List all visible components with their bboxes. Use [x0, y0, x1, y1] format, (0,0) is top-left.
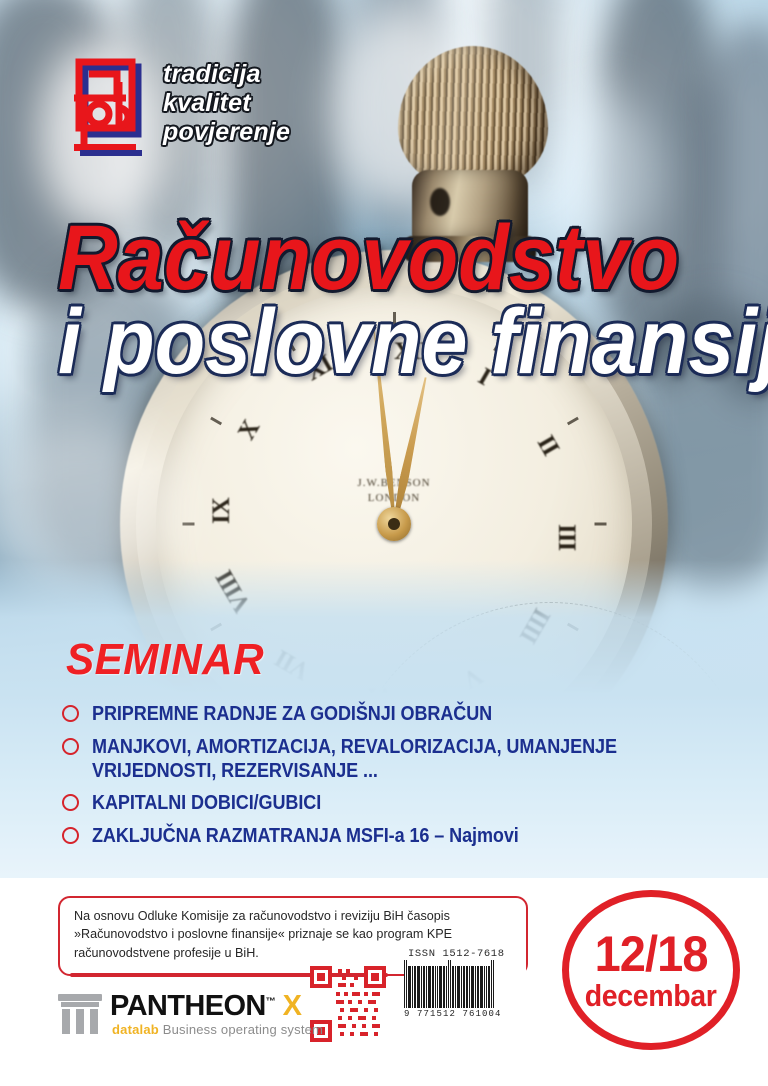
- temple-column: [90, 1009, 98, 1034]
- sponsor-tagline-brand: datalab: [112, 1022, 159, 1037]
- issn-label: ISSN 1512-7618: [408, 948, 505, 960]
- publisher-claim: tradicija kvalitet povjerenje: [163, 60, 290, 147]
- temple-column: [62, 1009, 70, 1034]
- bullet-ring-icon: [62, 738, 79, 755]
- seminar-topic-text: ZAKLJUČNA RAZMATRANJA MSFI-a 16 – Najmov…: [92, 824, 519, 848]
- seminar-heading: SEMINAR: [66, 638, 264, 682]
- sponsor-logo: PANTHEON™ X datalab Business operating s…: [58, 990, 308, 1042]
- barcode-number: 9 771512 761004: [404, 1009, 526, 1019]
- seminar-topic-text: PRIPREMNE RADNJE ZA GODIŠNJI OBRAČUN: [92, 702, 492, 726]
- dial-brand-line1: J.W.BENSON: [357, 476, 430, 491]
- barcode: 9 771512 761004: [404, 960, 526, 1018]
- temple-column-icon: [58, 994, 102, 1034]
- bullet-ring-icon: [62, 794, 79, 811]
- sponsor-tagline: datalab Business operating system: [112, 1022, 323, 1037]
- feb-logo-mark: [62, 58, 158, 156]
- claim-line-2: kvalitet: [163, 89, 290, 118]
- list-item[interactable]: PRIPREMNE RADNJE ZA GODIŠNJI OBRAČUN: [62, 702, 722, 726]
- trademark-symbol: ™: [266, 996, 275, 1007]
- sponsor-name-text: PANTHEON: [110, 990, 266, 1022]
- seminar-topic-text: KAPITALNI DOBICI/GUBICI: [92, 791, 321, 815]
- list-item[interactable]: ZAKLJUČNA RAZMATRANJA MSFI-a 16 – Najmov…: [62, 824, 722, 848]
- temple-cap-lower: [61, 1002, 99, 1007]
- hand-hub: [377, 507, 411, 541]
- seminar-topic-list: PRIPREMNE RADNJE ZA GODIŠNJI OBRAČUN MAN…: [62, 702, 722, 857]
- issue-month: decembar: [585, 980, 717, 1011]
- claim-line-3: povjerenje: [163, 118, 290, 147]
- temple-column: [76, 1009, 84, 1034]
- seminar-topic-text: MANJKOVI, AMORTIZACIJA, REVALORIZACIJA, …: [92, 735, 617, 783]
- sponsor-edition: X: [283, 990, 302, 1022]
- barcode-bars: [404, 960, 526, 1008]
- magazine-cover: XII I II III IIII V VI VII VIII IX X XI …: [0, 0, 768, 1086]
- magazine-title-line2: i poslovne finansije: [58, 298, 768, 386]
- bullet-ring-icon: [62, 827, 79, 844]
- sponsor-name: PANTHEON™ X: [110, 990, 301, 1023]
- magazine-title-line1: Računovodstvo: [58, 214, 679, 302]
- issue-number: 12/18: [595, 930, 708, 978]
- feb-logo: [62, 58, 158, 156]
- sponsor-tagline-rest: Business operating system: [159, 1022, 323, 1037]
- bullet-ring-icon: [62, 705, 79, 722]
- temple-cap: [58, 994, 102, 1001]
- list-item[interactable]: KAPITALNI DOBICI/GUBICI: [62, 791, 722, 815]
- list-item[interactable]: MANJKOVI, AMORTIZACIJA, REVALORIZACIJA, …: [62, 735, 722, 783]
- claim-line-1: tradicija: [163, 60, 290, 89]
- issue-date-stamp: 12/18 decembar: [562, 890, 740, 1050]
